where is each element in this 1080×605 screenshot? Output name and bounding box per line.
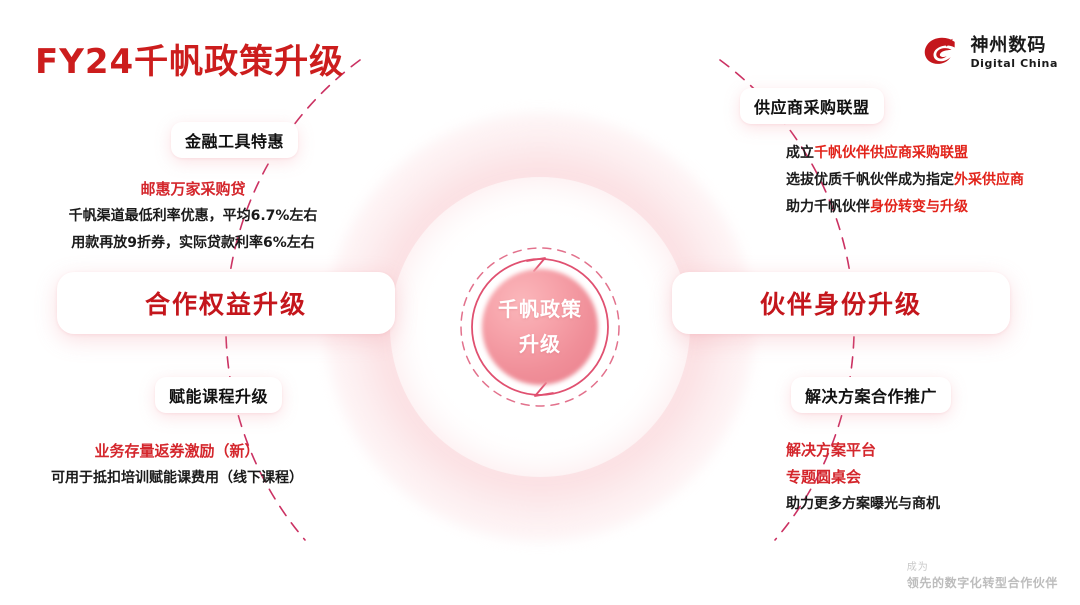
block-top-right-line-1-black: 成立 [786, 145, 814, 161]
block-top-right-line-2-black: 选拔优质千帆伙伴成为指定 [786, 172, 954, 188]
page-title: FY24千帆政策升级 [35, 34, 344, 83]
brand-name-en: Digital China [970, 58, 1058, 69]
pillar-right-partner-identity[interactable]: 伙伴身份升级 [672, 272, 1010, 334]
block-bottom-left: 业务存量返券激励（新） 可用于抵扣培训赋能课费用（线下课程） [22, 438, 332, 492]
center-label-line1: 千帆政策 [460, 292, 620, 327]
block-top-right-line-2: 选拔优质千帆伙伴成为指定外采供应商 [786, 167, 1024, 194]
block-top-right-line-1: 成立千帆伙伴供应商采购联盟 [786, 140, 1024, 167]
swirl-logo-icon [923, 36, 961, 70]
brand-name-cn: 神州数码 [970, 37, 1058, 55]
block-top-left-headline: 邮惠万家采购贷 [38, 176, 348, 203]
block-top-right: 成立千帆伙伴供应商采购联盟 选拔优质千帆伙伴成为指定外采供应商 助力千帆伙伴身份… [786, 140, 1024, 221]
center-label: 千帆政策 升级 [460, 292, 620, 362]
block-top-right-line-3-black: 助力千帆伙伴 [786, 199, 870, 215]
slide-canvas: 千帆政策 升级 FY24千帆政策升级 神州数码 Digital China 合作… [0, 0, 1080, 605]
block-top-left-line-2: 用款再放9折券，实际贷款利率6%左右 [38, 230, 348, 257]
chip-solution-promotion[interactable]: 解决方案合作推广 [791, 377, 951, 413]
chip-enablement-courses[interactable]: 赋能课程升级 [155, 377, 282, 413]
chip-financial-tools[interactable]: 金融工具特惠 [171, 122, 298, 158]
block-bottom-right-headline-2: 专题圆桌会 [786, 464, 940, 491]
block-bottom-left-headline: 业务存量返券激励（新） [22, 438, 332, 465]
block-bottom-left-line-1: 可用于抵扣培训赋能课费用（线下课程） [22, 465, 332, 492]
brand-logo: 神州数码 Digital China [923, 36, 1058, 70]
chip-supplier-alliance[interactable]: 供应商采购联盟 [740, 88, 884, 124]
block-top-right-line-3-red: 身份转变与升级 [870, 199, 968, 215]
footer-watermark: 成为 领先的数字化转型合作伙伴 [907, 561, 1058, 591]
block-top-left-line-1: 千帆渠道最低利率优惠，平均6.7%左右 [38, 203, 348, 230]
block-bottom-right-headline-1: 解决方案平台 [786, 437, 940, 464]
block-top-right-line-2-red: 外采供应商 [954, 172, 1024, 188]
block-top-right-line-3: 助力千帆伙伴身份转变与升级 [786, 194, 1024, 221]
footer-line-1: 成为 [907, 561, 1058, 575]
block-bottom-right-line-1: 助力更多方案曝光与商机 [786, 491, 940, 518]
block-top-right-line-1-red: 千帆伙伴供应商采购联盟 [814, 145, 968, 161]
footer-line-2: 领先的数字化转型合作伙伴 [907, 575, 1058, 591]
pillar-left-cooperation-benefits[interactable]: 合作权益升级 [57, 272, 395, 334]
center-label-line2: 升级 [460, 327, 620, 362]
brand-logo-text: 神州数码 Digital China [970, 37, 1058, 69]
block-top-left: 邮惠万家采购贷 千帆渠道最低利率优惠，平均6.7%左右 用款再放9折券，实际贷款… [38, 176, 348, 257]
block-bottom-right: 解决方案平台 专题圆桌会 助力更多方案曝光与商机 [786, 437, 940, 518]
